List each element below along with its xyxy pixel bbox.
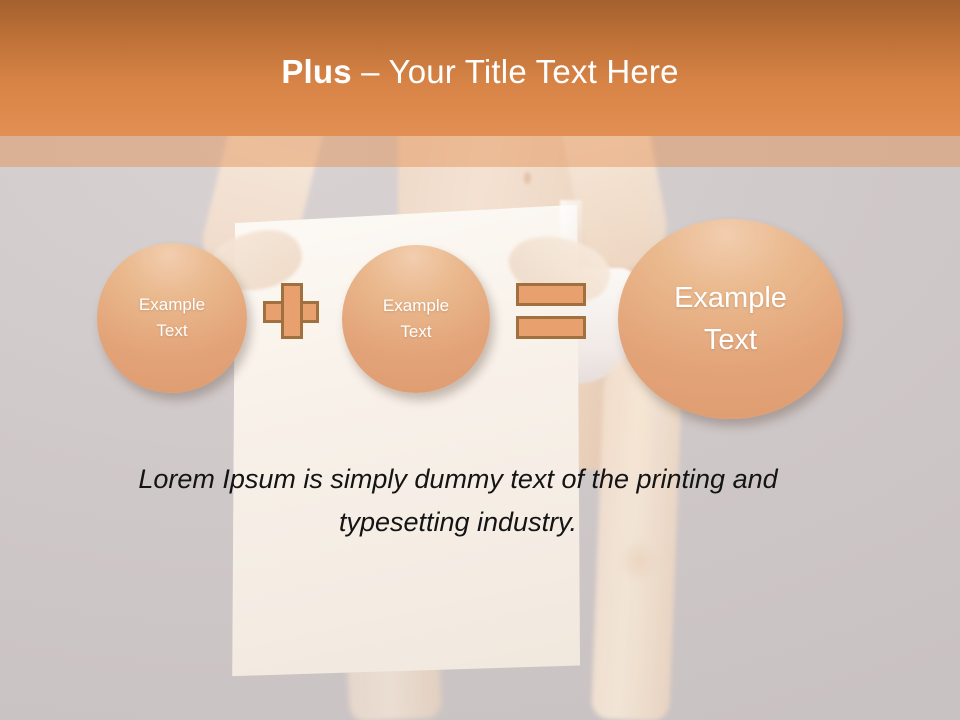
slide-title-strong: Plus bbox=[281, 53, 352, 90]
diagram-node-2-label: Example Text bbox=[383, 293, 449, 345]
diagram-node-3-label: Example Text bbox=[674, 277, 787, 361]
body-paragraph-line1: Lorem Ipsum is simply dummy text of the … bbox=[138, 464, 725, 494]
slide-header-banner: Plus – Your Title Text Here bbox=[0, 0, 960, 136]
diagram-node-1[interactable]: Example Text bbox=[97, 243, 247, 393]
diagram-node-2-line1: Example bbox=[383, 296, 449, 315]
slide-title-rest: – Your Title Text Here bbox=[352, 53, 679, 90]
presentation-slide: Plus – Your Title Text Here Example Text… bbox=[0, 0, 960, 720]
plus-icon bbox=[263, 283, 319, 339]
slide-title: Plus – Your Title Text Here bbox=[0, 52, 960, 92]
diagram-node-1-line2: Text bbox=[156, 321, 187, 340]
body-paragraph: Lorem Ipsum is simply dummy text of the … bbox=[98, 458, 818, 544]
plus-icon-center bbox=[284, 304, 300, 320]
header-accent-band bbox=[0, 136, 960, 167]
equals-icon bbox=[516, 283, 586, 339]
diagram-node-1-line1: Example bbox=[139, 295, 205, 314]
equals-icon-top-bar bbox=[516, 283, 586, 306]
diagram-node-2-line2: Text bbox=[400, 322, 431, 341]
diagram-node-3[interactable]: Example Text bbox=[618, 219, 843, 419]
equals-icon-bottom-bar bbox=[516, 316, 586, 339]
diagram-node-1-label: Example Text bbox=[139, 292, 205, 344]
photo-navel bbox=[524, 172, 531, 184]
diagram-node-3-line2: Text bbox=[704, 324, 757, 356]
diagram-node-2[interactable]: Example Text bbox=[342, 245, 490, 393]
diagram-node-3-line1: Example bbox=[674, 282, 787, 314]
